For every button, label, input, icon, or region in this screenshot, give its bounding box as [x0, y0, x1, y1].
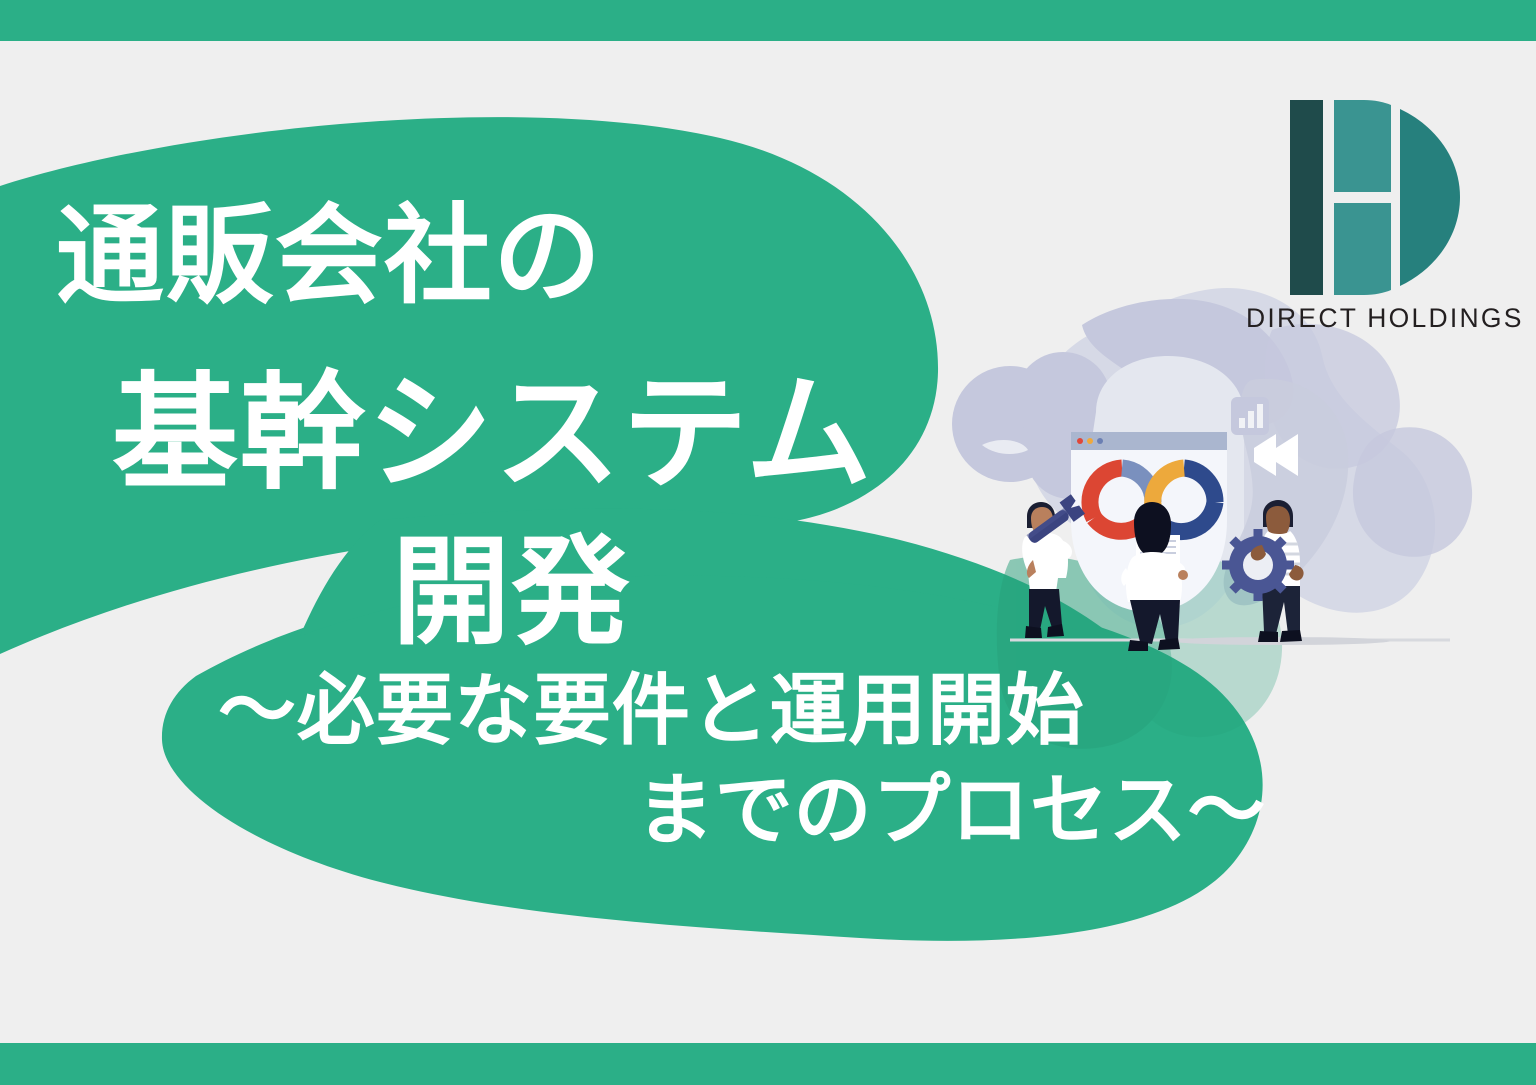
gear-icon: [1222, 529, 1294, 601]
brand-logo: DIRECT HOLDINGS: [1246, 100, 1496, 340]
direct-holdings-logomark: [1290, 100, 1470, 295]
ground-shadow: [1170, 637, 1390, 645]
brand-bar-bottom: [0, 1043, 1536, 1085]
bar-chart-badge: [1231, 397, 1269, 435]
logo-wordmark: DIRECT HOLDINGS: [1246, 303, 1496, 334]
brand-bar-top: [0, 0, 1536, 41]
poster-canvas: 通販会社の 基幹システム 開発 〜必要な要件と運用開始 までのプロセス〜 DIR…: [0, 0, 1536, 1085]
